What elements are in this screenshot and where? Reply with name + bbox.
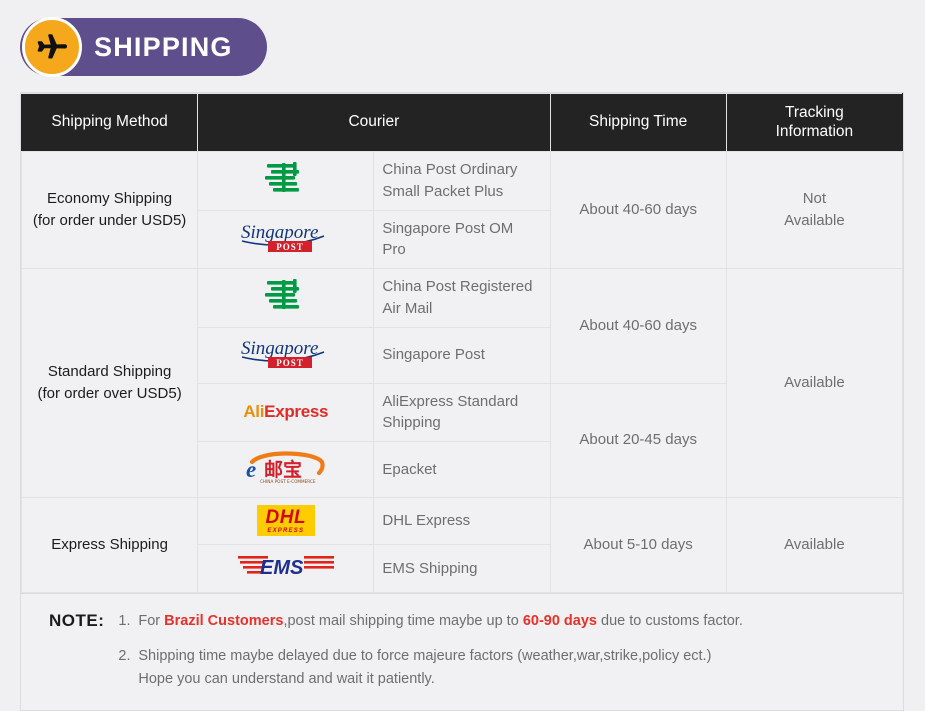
note-1-number: 1. bbox=[118, 610, 138, 632]
note-2-text: Shipping time maybe delayed due to force… bbox=[138, 645, 885, 690]
courier-name: Epacket bbox=[374, 442, 550, 498]
tracking-status-standard: Available bbox=[726, 269, 902, 498]
method-economy-shipping: Economy Shipping (for order under USD5) bbox=[22, 152, 198, 269]
shipping-table-container: Shipping Method Courier Shipping Time Tr… bbox=[20, 92, 904, 594]
aliexpress-logo-part2: Express bbox=[264, 402, 328, 421]
courier-name: Singapore Post bbox=[374, 327, 550, 383]
note-1-mid: ,post mail shipping time maybe up to bbox=[283, 613, 522, 629]
note-list: 1. For Brazil Customers,post mail shippi… bbox=[118, 610, 885, 690]
shipping-time-economy: About 40-60 days bbox=[550, 152, 726, 269]
svg-text:邮宝: 邮宝 bbox=[264, 458, 302, 481]
note-2-line2: Hope you can understand and wait it pati… bbox=[138, 668, 885, 690]
svg-text:EMS: EMS bbox=[260, 557, 304, 579]
shipping-time-standard-1: About 40-60 days bbox=[550, 269, 726, 384]
header-shipping-method: Shipping Method bbox=[22, 94, 198, 152]
banner-title: SHIPPING bbox=[94, 32, 233, 63]
dhl-logo-main: DHL bbox=[266, 508, 307, 527]
china-post-logo bbox=[198, 269, 374, 328]
method-express-line1: Express Shipping bbox=[26, 534, 193, 557]
method-express-shipping: Express Shipping bbox=[22, 498, 198, 593]
method-standard-shipping: Standard Shipping (for order over USD5) bbox=[22, 269, 198, 498]
method-standard-line1: Standard Shipping bbox=[26, 361, 193, 384]
courier-name: AliExpress Standard Shipping bbox=[374, 383, 550, 442]
tracking-economy-line2: Available bbox=[784, 212, 845, 229]
courier-name: DHL Express bbox=[374, 498, 550, 545]
svg-text:e: e bbox=[246, 457, 256, 482]
china-post-logo bbox=[198, 152, 374, 211]
note-label: NOTE: bbox=[49, 610, 104, 631]
header-tracking-line2: Information bbox=[776, 123, 854, 140]
tracking-status-economy: Not Available bbox=[726, 152, 902, 269]
note-item-1: 1. For Brazil Customers,post mail shippi… bbox=[118, 610, 885, 632]
table-row: Express Shipping DHL EXPRESS DHL Express… bbox=[22, 498, 903, 545]
dhl-logo: DHL EXPRESS bbox=[198, 498, 374, 545]
note-1-text: For Brazil Customers,post mail shipping … bbox=[138, 610, 885, 632]
svg-text:POST: POST bbox=[276, 358, 304, 368]
shipping-banner: SHIPPING bbox=[20, 18, 267, 76]
note-section: NOTE: 1. For Brazil Customers,post mail … bbox=[20, 594, 904, 711]
note-2-line1: Shipping time maybe delayed due to force… bbox=[138, 645, 885, 667]
svg-text:POST: POST bbox=[276, 242, 304, 252]
courier-name: EMS Shipping bbox=[374, 545, 550, 593]
method-economy-line1: Economy Shipping bbox=[26, 188, 193, 211]
note-item-2: 2. Shipping time maybe delayed due to fo… bbox=[118, 645, 885, 690]
note-1-highlight-brazil: Brazil Customers bbox=[164, 613, 283, 629]
table-row: Standard Shipping (for order over USD5) bbox=[22, 269, 903, 328]
note-2-number: 2. bbox=[118, 645, 138, 690]
courier-name: Singapore Post OM Pro bbox=[374, 210, 550, 269]
page-header: SHIPPING bbox=[0, 0, 925, 92]
note-1-post: due to customs factor. bbox=[597, 613, 743, 629]
header-courier: Courier bbox=[198, 94, 550, 152]
method-standard-line2: (for order over USD5) bbox=[26, 383, 193, 406]
aliexpress-logo: AliExpress bbox=[198, 383, 374, 442]
singapore-post-logo: Singapore POST bbox=[198, 327, 374, 383]
header-tracking-line1: Tracking bbox=[785, 104, 844, 121]
shipping-time-standard-2: About 20-45 days bbox=[550, 383, 726, 498]
epacket-logo: e 邮宝 CHINA POST E-COMMERCE bbox=[198, 442, 374, 498]
note-1-pre: For bbox=[138, 613, 164, 629]
courier-name: China Post Ordinary Small Packet Plus bbox=[374, 152, 550, 211]
ems-logo: EMS bbox=[198, 545, 374, 593]
svg-text:CHINA POST E-COMMERCE: CHINA POST E-COMMERCE bbox=[260, 479, 316, 484]
svg-text:Singapore: Singapore bbox=[241, 338, 318, 359]
tracking-economy-line1: Not bbox=[803, 190, 826, 207]
aliexpress-logo-part1: Ali bbox=[243, 402, 264, 421]
tracking-status-express: Available bbox=[726, 498, 902, 593]
shipping-time-express: About 5-10 days bbox=[550, 498, 726, 593]
method-economy-line2: (for order under USD5) bbox=[26, 210, 193, 233]
courier-name: China Post Registered Air Mail bbox=[374, 269, 550, 328]
airplane-icon bbox=[22, 17, 82, 77]
table-row: Economy Shipping (for order under USD5) bbox=[22, 152, 903, 211]
svg-text:Singapore: Singapore bbox=[241, 222, 318, 243]
dhl-logo-sub: EXPRESS bbox=[266, 528, 307, 534]
table-header-row: Shipping Method Courier Shipping Time Tr… bbox=[22, 94, 903, 152]
header-tracking-information: Tracking Information bbox=[726, 94, 902, 152]
header-shipping-time: Shipping Time bbox=[550, 94, 726, 152]
note-1-highlight-days: 60-90 days bbox=[523, 613, 597, 629]
singapore-post-logo: Singapore POST bbox=[198, 210, 374, 269]
shipping-table: Shipping Method Courier Shipping Time Tr… bbox=[21, 93, 903, 593]
